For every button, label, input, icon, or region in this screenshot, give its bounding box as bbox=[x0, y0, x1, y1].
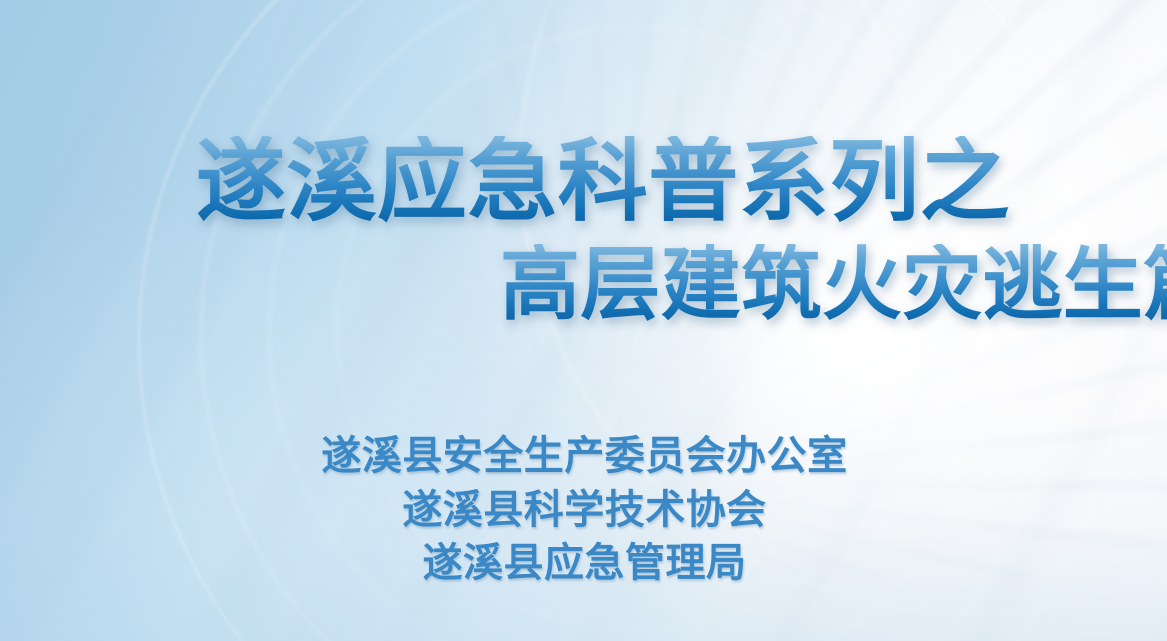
title-slide: 遂溪应急科普系列之 高层建筑火灾逃生篇 遂溪县安全生产委员会办公室 遂溪县科学技… bbox=[0, 0, 1167, 641]
title-line-primary: 遂溪应急科普系列之 bbox=[0, 136, 1167, 226]
title-block: 遂溪应急科普系列之 高层建筑火灾逃生篇 bbox=[0, 136, 1167, 324]
title-line-secondary: 高层建筑火灾逃生篇 bbox=[0, 244, 1167, 324]
organization-line-1: 遂溪县安全生产委员会办公室 bbox=[2, 430, 1167, 484]
slide-content: 遂溪应急科普系列之 高层建筑火灾逃生篇 遂溪县安全生产委员会办公室 遂溪县科学技… bbox=[0, 0, 1167, 641]
organization-list: 遂溪县安全生产委员会办公室 遂溪县科学技术协会 遂溪县应急管理局 bbox=[0, 430, 1167, 591]
organization-line-2: 遂溪县科学技术协会 bbox=[2, 484, 1167, 538]
organization-line-3: 遂溪县应急管理局 bbox=[2, 537, 1167, 591]
